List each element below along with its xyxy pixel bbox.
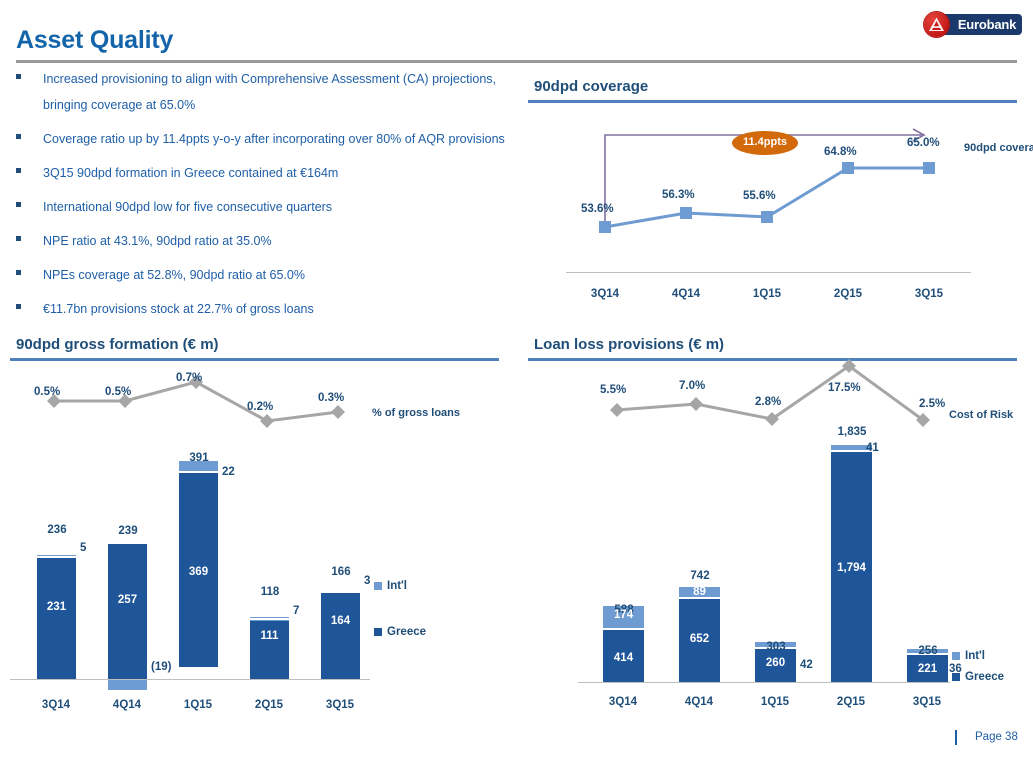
legend-item-intl: Int'l [952,650,985,662]
greece-value-label: 652 [679,633,720,645]
total-label: 742 [684,570,716,582]
legend-swatch-intl [952,652,960,660]
x-tick-label: 3Q15 [899,696,955,708]
data-label: 17.5% [828,382,861,394]
data-label: 2.5% [919,398,945,410]
total-label: 303 [760,641,792,653]
greece-value-label: 1,794 [825,562,878,574]
bar-separator [603,628,644,630]
cost-of-risk-line [0,0,1033,765]
x-tick-label: 3Q14 [595,696,651,708]
x-tick-label: 2Q15 [823,696,879,708]
slide: Asset Quality Eurobank Increased provisi… [0,0,1033,765]
intl-value-label: 89 [679,586,720,598]
legend-label-intl: Int'l [965,650,985,662]
legend-item-greece: Greece [952,671,1004,683]
legend-swatch-greece [952,673,960,681]
total-label: 1,835 [828,426,876,438]
series-label-cost-of-risk: Cost of Risk [949,408,1013,423]
intl-value-label: 174 [603,609,644,621]
data-label: 5.5% [600,384,626,396]
total-label: 256 [912,645,944,657]
x-axis-line [578,682,950,683]
legend-label-greece: Greece [965,671,1004,683]
greece-value-label: 414 [603,652,644,664]
footer-divider [955,730,957,745]
greece-value-label: 260 [755,657,796,669]
page-number: Page 38 [975,731,1018,743]
x-tick-label: 1Q15 [747,696,803,708]
intl-value-label: 41 [866,442,879,454]
data-label: 7.0% [679,380,705,392]
intl-value-label: 42 [800,659,813,671]
data-label: 2.8% [755,396,781,408]
greece-value-label: 221 [907,663,948,675]
x-tick-label: 4Q14 [671,696,727,708]
